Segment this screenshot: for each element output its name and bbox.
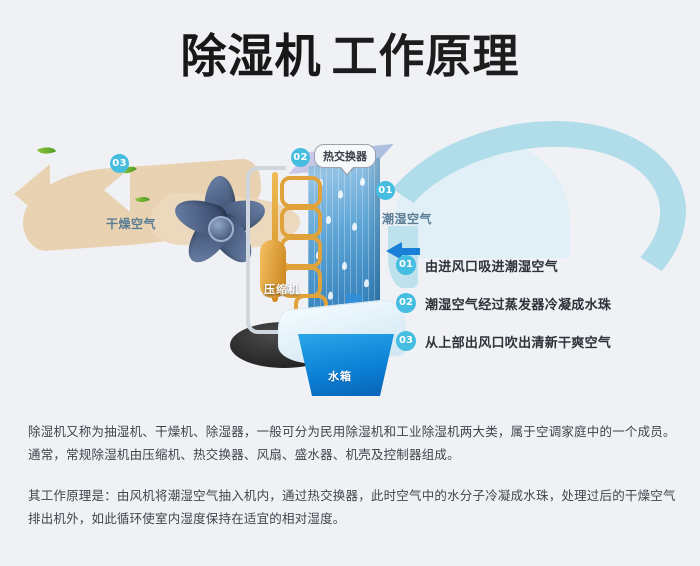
description-paragraph-1: 除湿机又称为抽湿机、干燥机、除湿器，一般可分为民用除湿机和工业除湿机两大类，属于… <box>28 420 676 466</box>
description-paragraph-2: 其工作原理是：由风机将潮湿空气抽入机内，通过热交换器，此时空气中的水分子冷凝成水… <box>28 484 676 530</box>
page-title: 除湿机工作原理 <box>181 30 520 83</box>
refrigerant-coil <box>280 206 322 238</box>
water-droplet <box>342 262 347 271</box>
page-title-part1: 除湿机 <box>181 29 322 83</box>
water-droplet <box>326 216 331 225</box>
heat-exchanger-tooltip: 热交换器 <box>314 144 376 168</box>
water-droplet <box>352 222 357 231</box>
compressor-label: 压缩机 <box>264 281 300 297</box>
water-droplet <box>328 291 333 300</box>
fan-hub <box>208 216 234 242</box>
diagram-badge-03: 03 <box>110 154 129 173</box>
leaf-icon <box>37 143 56 158</box>
page-header: 除湿机工作原理 <box>0 0 700 83</box>
refrigerant-coil <box>280 236 322 268</box>
step-badge-02: 02 <box>396 293 416 313</box>
dry-air-label: 干燥空气 <box>106 215 156 232</box>
steps-list: 01 由进风口吸进潮湿空气 02 潮湿空气经过蒸发器冷凝成水珠 03 从上部出风… <box>396 255 686 369</box>
refrigerant-coil <box>280 176 322 208</box>
diagram-badge-01: 01 <box>376 181 395 200</box>
page-title-part2: 工作原理 <box>332 29 520 83</box>
water-tank <box>294 334 394 396</box>
water-droplet <box>338 190 343 199</box>
step-text-03: 从上部出风口吹出清新干爽空气 <box>425 332 611 351</box>
step-item: 02 潮湿空气经过蒸发器冷凝成水珠 <box>396 293 686 313</box>
step-text-01: 由进风口吸进潮湿空气 <box>425 256 558 275</box>
diagram-badge-02: 02 <box>291 148 310 167</box>
water-droplet <box>360 177 365 186</box>
humid-air-label: 潮湿空气 <box>382 210 432 227</box>
water-tank-label: 水箱 <box>328 368 352 384</box>
inlet-airflow-arrow-tail <box>402 248 420 255</box>
dry-air-notch <box>104 168 130 212</box>
step-item: 01 由进风口吸进潮湿空气 <box>396 255 686 275</box>
step-item: 03 从上部出风口吹出清新干爽空气 <box>396 331 686 351</box>
water-droplet <box>364 279 369 288</box>
step-badge-01: 01 <box>396 255 416 275</box>
dry-air-arrowhead-icon <box>14 164 50 224</box>
step-text-02: 潮湿空气经过蒸发器冷凝成水珠 <box>425 294 611 313</box>
step-badge-03: 03 <box>396 331 416 351</box>
description-section: 除湿机又称为抽湿机、干燥机、除湿器，一般可分为民用除湿机和工业除湿机两大类，属于… <box>28 420 676 530</box>
